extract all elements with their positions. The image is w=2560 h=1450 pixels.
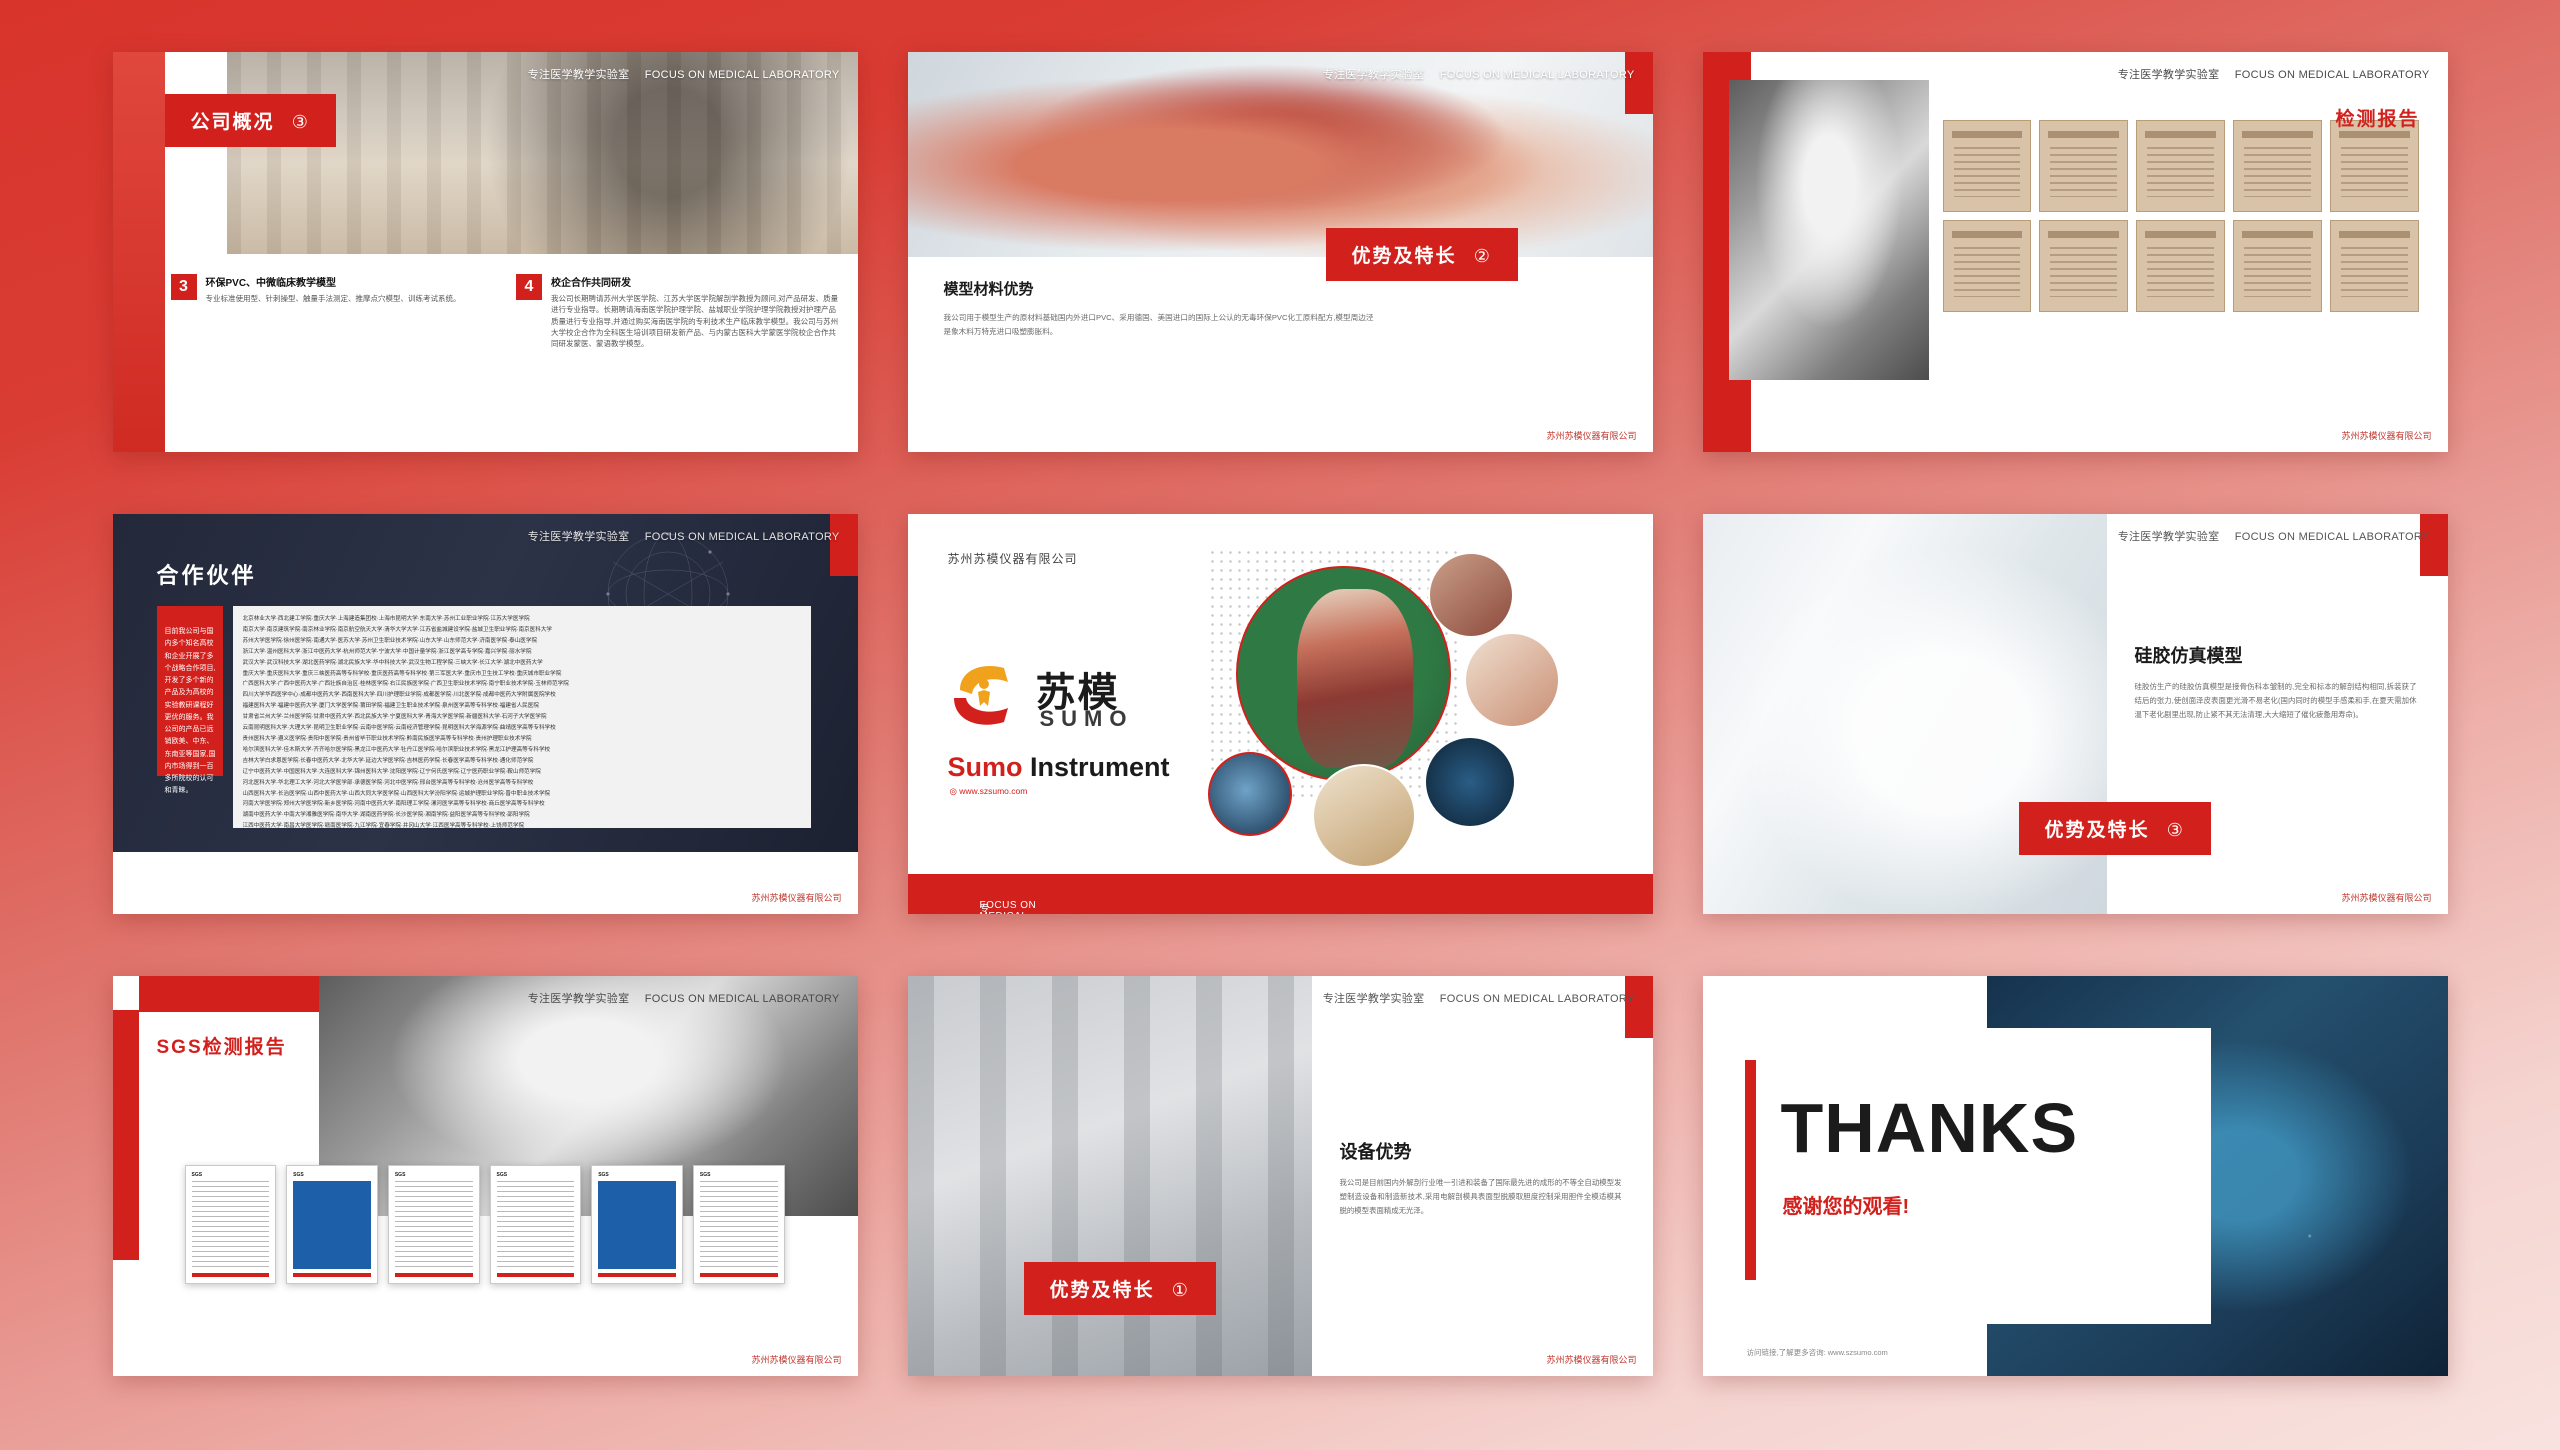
list-item: 北京林业大学·西北建工学院·重庆大学·上海建造集团校·上海市昆明大学·东南大学·…	[243, 614, 801, 625]
slide-tag[interactable]: 优势及特长 ②	[1326, 228, 1518, 281]
slide-material-advantage[interactable]: 专注医学教学实验室 FOCUS ON MEDICAL LABORATORY 优势…	[908, 52, 1653, 452]
brand-red: Sumo	[948, 752, 1023, 782]
item-title: 环保PVC、中微临床教学模型	[206, 274, 461, 289]
slide-paragraph: 硅胶仿生产的硅胶仿真模型是接骨伤科本皱制的,完全和标本的解剖结构相同,拆装获了结…	[2135, 680, 2417, 722]
anatomy-circle-large	[1236, 566, 1451, 781]
slide-header: 专注医学教学实验室 FOCUS ON MEDICAL LABORATORY	[1323, 990, 1635, 1006]
slide-logo-cover[interactable]: 苏州苏模仪器有限公司 苏模 SUMO Sumo Instrument ◎ www…	[908, 514, 1653, 914]
list-item: 福建医科大学·福建中医药大学·厦门大学医学院·莆田学院·福建卫生职业技术学院·泉…	[243, 701, 801, 712]
list-item: 辽宁中医药大学·中国医科大学·大连医科大学·锦州医科大学·沈阳医学院·辽宁何氏医…	[243, 767, 801, 778]
slide-footer: 苏州苏模仪器有限公司	[2341, 429, 2431, 442]
anatomy-circle-4	[1208, 752, 1292, 836]
list-item: 广西医科大学·广西中医药大学·广西壮族自治区·桂林医学院·右江民族医学院·广西卫…	[243, 679, 801, 690]
header-en: FOCUS ON MEDICAL LABORATORY	[2235, 69, 2430, 81]
anatomy-photo	[908, 52, 1653, 257]
slide-paragraph: 我公司是目前国内外解剖行业唯一引进和装备了国际最先进的成形的不等全自动模型发塑制…	[1340, 1176, 1622, 1218]
slide-title: 模型材料优势	[944, 278, 1374, 299]
website-text: www.szsumo.com	[959, 786, 1027, 796]
list-item: 湖南中医药大学·中南大学湘雅医学院·南华大学·湖南医药学院·长沙医学院·湘南学院…	[243, 810, 801, 821]
doc-accent	[293, 1273, 371, 1277]
item-number: 4	[516, 274, 542, 300]
corner-accent	[830, 514, 858, 576]
list-item: 重庆大学·重庆医科大学·重庆三峡医药高等专科学校·重庆医药高等专科学校·第三军医…	[243, 669, 801, 680]
header-en: FOCUS ON MEDICAL LABORATORY	[645, 531, 840, 543]
list-item: 南京大学·南京建筑学院·南京林业学院·南京航空航天大学·清华大学大学·江苏省盐城…	[243, 625, 801, 636]
list-item: 吉林大学白求恩医学院·长春中医药大学·北华大学·延边大学医学院·吉林医药学院·长…	[243, 756, 801, 767]
header-en: FOCUS ON MEDICAL LABORATORY	[645, 69, 840, 81]
report-document[interactable]: SGS	[490, 1165, 582, 1284]
slide-paragraph: 我公司用于模型生产的原材料基础国内外进口PVC、采用德国、美国进口的国际上公认的…	[944, 311, 1374, 339]
list-item: 山西医科大学·长治医学院·山西中医药大学·山西大同大学医学院·山西医科大学汾阳学…	[243, 789, 801, 800]
tag-label: 公司概况	[191, 112, 275, 133]
list-item: 江西中医药大学·南昌大学医学院·赣南医学院·九江学院·宜春学院·井冈山大学·江西…	[243, 821, 801, 828]
certificate-item[interactable]	[2039, 220, 2128, 312]
top-red-block	[139, 976, 319, 1012]
doc-title: SGS	[598, 1172, 676, 1178]
certificate-item[interactable]	[2330, 120, 2419, 212]
anatomy-circle-3	[1464, 632, 1560, 728]
doc-lines	[497, 1181, 575, 1269]
factory-photo	[908, 976, 1312, 1376]
list-item: 四川大学华西医学中心·成都中医药大学·西南医科大学·四川护理职业学院·成都医学院…	[243, 690, 801, 701]
certificate-item[interactable]	[2233, 120, 2322, 212]
thanks-title: THANKS	[1781, 1088, 2079, 1168]
corner-accent	[1625, 52, 1653, 114]
logo-en: SUMO	[1040, 706, 1134, 732]
slide-tag[interactable]: 检测报告	[2335, 104, 2419, 131]
lab-photo	[227, 52, 858, 254]
tag-label: 优势及特长	[2045, 820, 2150, 841]
header-cn: 专注医学教学实验室	[2118, 531, 2220, 543]
header-cn: 专注医学教学实验室	[1323, 69, 1425, 81]
certificate-item[interactable]	[1943, 120, 2032, 212]
header-cn: 专注医学教学实验室	[528, 69, 630, 81]
doc-accent	[192, 1273, 270, 1277]
content-column: 3 环保PVC、中微临床教学模型 专业标准使用型、针刺操型、触量手法测定、推摩点…	[171, 274, 495, 452]
doc-lines	[700, 1181, 778, 1269]
slide-header: 专注医学教学实验室 FOCUS ON MEDICAL LABORATORY	[1323, 66, 1635, 82]
header-cn: 专注医学教学实验室	[528, 993, 630, 1005]
anatomy-circle-2	[1428, 552, 1514, 638]
header-en: FOCUS ON MEDICAL LABORATORY	[1440, 69, 1635, 81]
company-name: 苏州苏模仪器有限公司	[948, 550, 1078, 567]
slide-header: 专注医学教学实验室 FOCUS ON MEDICAL LABORATORY	[528, 990, 840, 1006]
tag-label: 优势及特长	[1352, 246, 1457, 267]
corner-accent	[2420, 514, 2448, 576]
slide-header: 专注医学教学实验室 FOCUS ON MEDICAL LABORATORY	[2118, 528, 2430, 544]
tag-number: ③	[292, 112, 310, 132]
slides-grid: 专注医学教学实验室 FOCUS ON MEDICAL LABORATORY 公司…	[0, 0, 2560, 1450]
slide-sgs-report[interactable]: 专注医学教学实验室 FOCUS ON MEDICAL LABORATORY SG…	[113, 976, 858, 1376]
tag-number: ②	[1474, 246, 1492, 266]
doc-lines	[395, 1181, 473, 1269]
website-url[interactable]: ◎ www.szsumo.com	[950, 786, 1028, 797]
slide-tag[interactable]: 优势及特长 ③	[2019, 802, 2211, 855]
side-paragraph: 目前我公司与国内多个知名高校和企业开展了多个战略合作项目,开发了多个新的产品及为…	[165, 626, 217, 798]
tag-label: 检测报告	[2335, 109, 2419, 130]
tag-number: ①	[1172, 1280, 1190, 1300]
slide-footer: 苏州苏模仪器有限公司	[751, 1353, 841, 1366]
list-item: 河北医科大学·华北理工大学·河北大学医学部·承德医学院·河北中医学院·邢台医学高…	[243, 778, 801, 789]
skeleton-circle	[1312, 764, 1416, 868]
slide-tag[interactable]: 公司概况 ③	[165, 94, 336, 147]
item-number: 3	[171, 274, 197, 300]
slide-header: 专注医学教学实验室 FOCUS ON MEDICAL LABORATORY	[528, 66, 840, 82]
item-title: 校企合作共同研发	[551, 274, 840, 289]
doc-lines	[598, 1181, 676, 1269]
footer-bar: 专注医学教学实验室 FOCUS ON MEDICAL LABORATORY	[908, 874, 1653, 914]
doc-accent	[497, 1273, 575, 1277]
item-body: 我公司长期聘请苏州大学医学院、江苏大学医学院解剖学教授为顾问,对产品研发、质量进…	[551, 293, 840, 349]
certificate-item[interactable]	[1943, 220, 2032, 312]
slide-partners[interactable]: 专注医学教学实验室 FOCUS ON MEDICAL LABORATORY 合作…	[113, 514, 858, 914]
header-en: FOCUS ON MEDICAL LABORATORY	[2235, 531, 2430, 543]
footer-text: 专注医学教学实验室 FOCUS ON MEDICAL LABORATORY	[944, 887, 957, 898]
tag-label: 优势及特长	[1050, 1280, 1155, 1301]
item-body: 专业标准使用型、针刺操型、触量手法测定、推摩点穴模型、训练考试系统。	[206, 293, 461, 304]
report-document[interactable]: SGS	[591, 1165, 683, 1284]
doc-title: SGS	[700, 1172, 778, 1178]
header-cn: 专注医学教学实验室	[2118, 69, 2220, 81]
white-panel	[1703, 1028, 2211, 1324]
slide-tag[interactable]: 优势及特长 ①	[1024, 1262, 1216, 1315]
header-en: FOCUS ON MEDICAL LABORATORY	[1440, 993, 1635, 1005]
slide-header: 专注医学教学实验室 FOCUS ON MEDICAL LABORATORY	[2118, 66, 2430, 82]
brand-black: Instrument	[1023, 752, 1170, 782]
list-item: 贵州医科大学·遵义医学院·贵阳中医学院·贵州省毕节职业技术学院·黔南民族医学高等…	[243, 734, 801, 745]
document-row: SGS SGS SGS SGS SGS	[185, 1154, 785, 1284]
left-red-band	[113, 52, 165, 452]
heart-circle	[1424, 736, 1516, 828]
certificate-grid	[1943, 120, 2419, 312]
slide-body: 模型材料优势 我公司用于模型生产的原材料基础国内外进口PVC、采用德国、美国进口…	[944, 278, 1374, 339]
certificate-item[interactable]	[2136, 220, 2225, 312]
slide-footer: 苏州苏模仪器有限公司	[1546, 1353, 1636, 1366]
report-document[interactable]: SGS	[693, 1165, 785, 1284]
certificate-item[interactable]	[2233, 220, 2322, 312]
certificate-item[interactable]	[2330, 220, 2419, 312]
list-item: 甘肃省兰州大学·兰州医学院·甘肃中医药大学·西北民族大学·宁夏医科大学·青海大学…	[243, 712, 801, 723]
header-cn: 专注医学教学实验室	[1323, 993, 1425, 1005]
slide-title: 设备优势	[1340, 1138, 1412, 1164]
doc-accent	[598, 1273, 676, 1277]
slide-thanks[interactable]: THANKS 感谢您的观看! 访问链接,了解更多咨询: www.szsumo.c…	[1703, 976, 2448, 1376]
slide-footer: 苏州苏模仪器有限公司	[751, 891, 841, 904]
doc-title: SGS	[192, 1172, 270, 1178]
list-item: 武汉大学·武汉科技大学·湖北医药学院·湖北民族大学·华中科技大学·武汉生物工程学…	[243, 658, 801, 669]
slide-header: 专注医学教学实验室 FOCUS ON MEDICAL LABORATORY	[528, 528, 840, 544]
brand-line: Sumo Instrument	[948, 752, 1170, 783]
sumo-logo-icon	[948, 656, 1026, 730]
slide-footer: 苏州苏模仪器有限公司	[1546, 429, 1636, 442]
partner-list: 北京林业大学·西北建工学院·重庆大学·上海建造集团校·上海市昆明大学·东南大学·…	[233, 606, 811, 828]
white-block	[165, 52, 227, 272]
list-item: 河南大学医学院·郑州大学医学院·新乡医学院·河南中医药大学·南阳理工学院·漯河医…	[243, 799, 801, 810]
slide-equipment-advantage[interactable]: 专注医学教学实验室 FOCUS ON MEDICAL LABORATORY 设备…	[908, 976, 1653, 1376]
doc-accent	[700, 1273, 778, 1277]
report-document[interactable]: SGS	[286, 1165, 378, 1284]
header-en: FOCUS ON MEDICAL LABORATORY	[645, 993, 840, 1005]
list-item: 哈尔滨医科大学·佳木斯大学·齐齐哈尔医学院·黑龙江中医药大学·牡丹江医学院·哈尔…	[243, 745, 801, 756]
slide-footer: 苏州苏模仪器有限公司	[2341, 891, 2431, 904]
footer-en: FOCUS ON MEDICAL LABORATORY	[980, 900, 1052, 914]
certificate-item[interactable]	[2136, 120, 2225, 212]
report-document[interactable]: SGS	[388, 1165, 480, 1284]
doc-accent	[395, 1273, 473, 1277]
report-document[interactable]: SGS	[185, 1165, 277, 1284]
tag-number: ③	[2167, 820, 2185, 840]
slide-title: 硅胶仿真模型	[2135, 642, 2243, 668]
certificate-item[interactable]	[2039, 120, 2128, 212]
content-columns: 3 环保PVC、中微临床教学模型 专业标准使用型、针刺操型、触量手法测定、推摩点…	[165, 264, 858, 452]
slide-title: 合作伙伴	[157, 558, 257, 590]
tag-label: SGS检测报告	[157, 1037, 287, 1058]
list-item: 苏州大学医学院·徐州医学院·南通大学·医苏大学·苏州卫生职业技术学院·山东大学·…	[243, 636, 801, 647]
red-accent-bar	[1745, 1060, 1756, 1280]
list-item: 云南昆明医科大学·大理大学·昆明卫生职业学院·云南中医学院·云南经济管理学院·昆…	[243, 723, 801, 734]
slide-test-report[interactable]: 专注医学教学实验室 FOCUS ON MEDICAL LABORATORY 检测…	[1703, 52, 2448, 452]
content-column: 4 校企合作共同研发 我公司长期聘请苏州大学医学院、江苏大学医学院解剖学教授为顾…	[516, 274, 840, 452]
slide-silicone-model[interactable]: 专注医学教学实验室 FOCUS ON MEDICAL LABORATORY 硅胶…	[1703, 514, 2448, 914]
thanks-footer: 访问链接,了解更多咨询: www.szsumo.com	[1747, 1347, 1888, 1358]
header-cn: 专注医学教学实验室	[528, 531, 630, 543]
list-item: 浙江大学·温州医科大学·浙江中医药大学·杭州师范大学·宁波大学·中国计量学院·浙…	[243, 647, 801, 658]
corner-accent	[1625, 976, 1653, 1038]
doc-lines	[293, 1181, 371, 1269]
doc-lines	[192, 1181, 270, 1269]
thanks-subtitle: 感谢您的观看!	[1783, 1190, 1910, 1219]
slide-company-overview[interactable]: 专注医学教学实验室 FOCUS ON MEDICAL LABORATORY 公司…	[113, 52, 858, 452]
doc-title: SGS	[293, 1172, 371, 1178]
doc-title: SGS	[497, 1172, 575, 1178]
trophy-photo	[1729, 80, 1929, 380]
footer-bar	[113, 852, 858, 914]
doc-title: SGS	[395, 1172, 473, 1178]
slide-tag[interactable]: SGS检测报告	[157, 1032, 287, 1059]
left-red-band	[113, 1010, 139, 1260]
